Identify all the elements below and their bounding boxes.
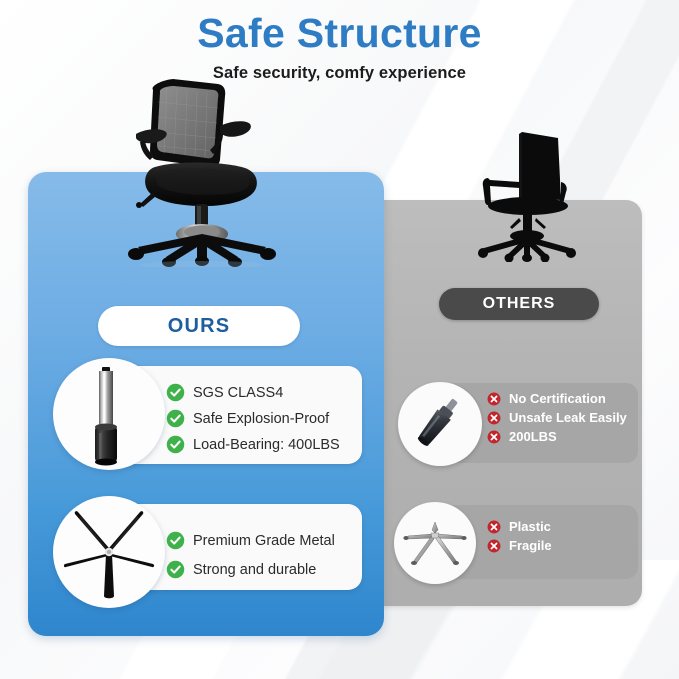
check-circle-icon (166, 435, 185, 454)
cross-circle-icon (487, 392, 501, 406)
feature-label: 200LBS (509, 429, 557, 444)
feature-row: Unsafe Leak Easily (487, 410, 627, 425)
feature-row: Fragile (487, 538, 552, 553)
others-star-base-image (394, 502, 476, 584)
feature-label: No Certification (509, 391, 606, 406)
header: Safe Structure Safe security, comfy expe… (0, 10, 679, 83)
ours-star-base-image (53, 496, 165, 608)
others-gas-cylinder-image (398, 382, 482, 466)
cross-circle-icon (487, 411, 501, 425)
feature-label: Fragile (509, 538, 552, 553)
feature-label: Load-Bearing: 400LBS (193, 437, 340, 453)
ours-feature-list-2: Premium Grade Metal Strong and durable (166, 531, 335, 579)
ours-gas-cylinder-image (53, 358, 165, 470)
feature-row: Load-Bearing: 400LBS (166, 435, 340, 454)
check-circle-icon (166, 531, 185, 550)
page-subtitle: Safe security, comfy experience (0, 64, 679, 83)
feature-row: SGS CLASS4 (166, 383, 340, 402)
feature-row: 200LBS (487, 429, 627, 444)
feature-row: Premium Grade Metal (166, 531, 335, 550)
feature-row: Strong and durable (166, 560, 335, 579)
page-title: Safe Structure (0, 10, 679, 57)
cross-circle-icon (487, 520, 501, 534)
others-label-pill: OTHERS (439, 288, 599, 320)
check-circle-icon (166, 383, 185, 402)
check-circle-icon (166, 560, 185, 579)
ours-label-pill: OURS (98, 306, 300, 346)
cross-circle-icon (487, 539, 501, 553)
others-label-text: OTHERS (483, 295, 556, 313)
ours-chair-image (110, 72, 295, 267)
feature-row: No Certification (487, 391, 627, 406)
others-chair-image (462, 126, 590, 262)
feature-label: Unsafe Leak Easily (509, 410, 627, 425)
feature-label: Safe Explosion-Proof (193, 411, 329, 427)
others-feature-list-2: Plastic Fragile (487, 519, 552, 553)
feature-label: SGS CLASS4 (193, 385, 283, 401)
feature-row: Safe Explosion-Proof (166, 409, 340, 428)
feature-label: Premium Grade Metal (193, 533, 335, 549)
cross-circle-icon (487, 430, 501, 444)
ours-feature-list-1: SGS CLASS4 Safe Explosion-Proof Load-Bea… (166, 383, 340, 454)
check-circle-icon (166, 409, 185, 428)
feature-row: Plastic (487, 519, 552, 534)
feature-label: Strong and durable (193, 562, 316, 578)
comparison-infographic: Safe Structure Safe security, comfy expe… (0, 0, 679, 679)
feature-label: Plastic (509, 519, 551, 534)
others-feature-list-1: No Certification Unsafe Leak Easily 200L… (487, 391, 627, 444)
ours-label-text: OURS (168, 315, 231, 338)
